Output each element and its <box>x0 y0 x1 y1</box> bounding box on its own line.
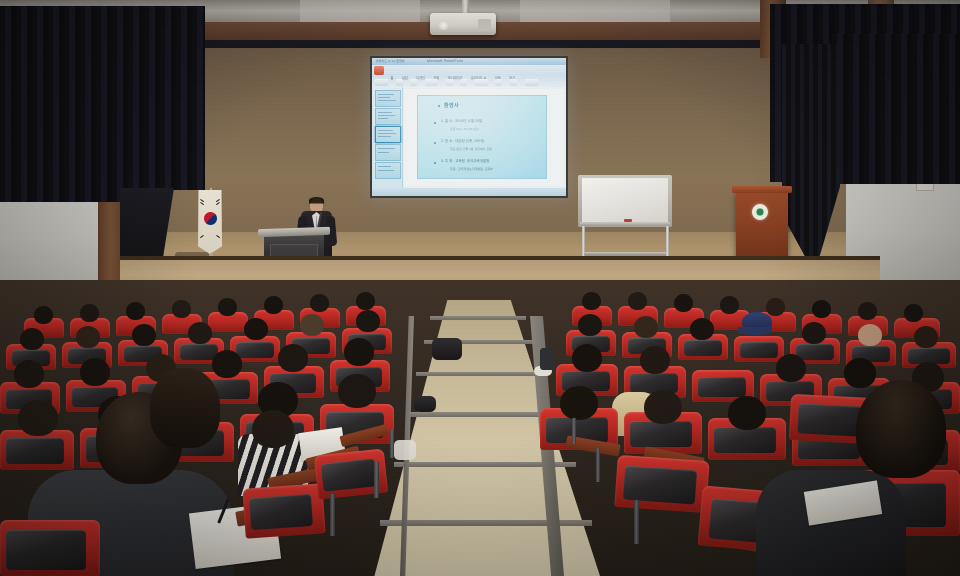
attendee-head <box>188 322 212 344</box>
cap-brim-icon <box>738 327 772 335</box>
attendee-head <box>212 350 242 378</box>
attendee-head <box>80 304 99 322</box>
attendee-head <box>218 298 237 316</box>
seat-leg <box>330 494 335 536</box>
seat-back-panel <box>6 438 64 464</box>
marker-icon[interactable] <box>624 219 632 222</box>
attendee-head <box>18 400 58 436</box>
ppt-bold-button[interactable] <box>446 79 453 86</box>
attendee-head <box>300 314 324 336</box>
attendee-head <box>674 294 693 312</box>
seat-back-panel <box>249 494 313 530</box>
attendee-head <box>344 338 374 366</box>
wooden-lectern <box>736 190 788 266</box>
seat-back-panel <box>321 458 378 491</box>
attendee-head <box>844 358 876 388</box>
ppt-font-button[interactable] <box>425 79 438 86</box>
seat-leg <box>634 500 639 544</box>
seat-back-panel <box>630 373 678 393</box>
bag <box>414 396 436 412</box>
attendee-head <box>20 328 44 350</box>
attendee-head <box>572 344 602 372</box>
projector-lens-icon <box>438 20 449 30</box>
ppt-layout-button[interactable] <box>410 79 417 86</box>
attendee-head <box>310 294 329 312</box>
attendee-head <box>634 316 658 338</box>
attendee-head <box>76 326 100 348</box>
seat-back-panel <box>236 342 274 358</box>
seat-back-panel <box>6 530 86 570</box>
ceiling-panel <box>300 0 420 22</box>
attendee-head <box>644 390 682 424</box>
projector-vent <box>478 19 491 31</box>
attendee-head <box>904 304 923 322</box>
seat-leg <box>374 462 379 498</box>
seat-back-panel <box>623 466 697 505</box>
attendee-head <box>766 298 785 316</box>
attendee-head <box>126 302 145 320</box>
attendee-head <box>264 296 283 314</box>
foreground-attendee-right-body <box>756 470 906 576</box>
current-slide: 환영사 1. 일 시 : 2014년 11월 20일 오후 2시 ~ 5시 (3… <box>417 95 547 179</box>
attendee-head <box>776 354 806 382</box>
ppt-app-title: Microsoft PowerPoint <box>427 59 463 63</box>
ppt-find-button[interactable] <box>525 79 538 86</box>
backpack <box>432 338 462 360</box>
attendee-head <box>628 292 647 310</box>
seat-back-panel <box>630 421 692 447</box>
attendee-head <box>858 302 877 320</box>
taeguk-symbol-icon <box>204 212 217 225</box>
slide-bullet-2-line1: 2. 장 소 : 대강당 (1층, 200석) <box>441 139 484 144</box>
institution-emblem-icon <box>752 204 768 220</box>
lectern-top <box>732 186 792 193</box>
seat-back-panel <box>797 403 862 436</box>
ppt-arrange-button[interactable] <box>495 79 502 86</box>
attendee-head <box>80 358 110 386</box>
whiteboard-crossbar <box>584 252 666 255</box>
whiteboard-marker-tray <box>580 222 670 226</box>
ppt-align-button[interactable] <box>460 79 467 86</box>
aisle-step-edge <box>416 372 548 376</box>
attendee-head <box>132 324 156 346</box>
attendee-head <box>252 410 294 448</box>
stage-curtain-left-outer <box>0 6 126 202</box>
ceiling-panel <box>520 0 670 22</box>
attendee-head <box>578 314 602 336</box>
attendee-head <box>690 318 714 340</box>
slide-bullet-1-line1: 1. 일 시 : 2014년 11월 20일 <box>441 119 482 124</box>
attendee-head <box>802 322 826 344</box>
slide-title: 환영사 <box>444 102 459 109</box>
attendee-head <box>858 324 882 346</box>
attendee-head <box>34 306 53 324</box>
whiteboard-surface[interactable] <box>582 178 668 223</box>
projection-screen: Microsoft PowerPoint 홈 삽입 디자인 전환 애니메이션 슬… <box>372 58 566 196</box>
auditorium-photo: Microsoft PowerPoint 홈 삽입 디자인 전환 애니메이션 슬… <box>0 0 960 576</box>
ppt-quickstyles-button[interactable] <box>510 79 517 86</box>
aisle-step-edge <box>430 316 526 320</box>
attendee-head <box>338 374 376 408</box>
slide-bullet-3-line1: 3. 주 최 : 교육청, 한국교육개발원 <box>441 159 489 164</box>
ppt-slide-canvas[interactable]: 환영사 1. 일 시 : 2014년 11월 20일 오후 2시 ~ 5시 (3… <box>404 89 564 186</box>
slide-bullet-1-line2: 오후 2시 ~ 5시 (3시간) <box>450 127 479 131</box>
attendee-head <box>720 296 739 314</box>
attendee-head <box>150 368 220 448</box>
attendee-head <box>356 310 380 332</box>
attendee-leg <box>540 348 554 370</box>
attendee-head <box>640 346 670 374</box>
seat-back-panel <box>698 377 746 397</box>
slide-bullet-3-line2: 후원 : 한국직업능력개발원, 교육부 <box>450 167 493 171</box>
ppt-status-text: 슬라이드 3 / 12 한국어 <box>376 59 405 194</box>
attendee-head <box>244 318 268 340</box>
attendee-head <box>812 300 831 318</box>
attendee-head <box>278 344 308 372</box>
attendee-head <box>560 386 598 420</box>
seat-back-panel <box>684 340 722 356</box>
foreground-attendee-right-head <box>856 380 946 478</box>
ppt-shapes-button[interactable] <box>475 79 488 86</box>
shoe <box>394 440 416 460</box>
attendee-head <box>582 292 601 310</box>
attendee-head <box>14 360 44 388</box>
attendee-head <box>172 300 191 318</box>
seat-leg <box>572 418 576 444</box>
attendee-head <box>914 326 938 348</box>
attendee-head <box>728 396 766 430</box>
stage-curtain-right-side <box>832 34 960 184</box>
seat-back-panel <box>740 342 778 358</box>
seat-leg <box>596 448 600 482</box>
aisle-step-edge <box>380 520 592 526</box>
seat-back-panel <box>714 427 776 453</box>
attendee-head <box>356 292 375 310</box>
slide-bullet-2-line2: 학교 본관 건물 2층 강당에서 진행 <box>450 147 492 151</box>
